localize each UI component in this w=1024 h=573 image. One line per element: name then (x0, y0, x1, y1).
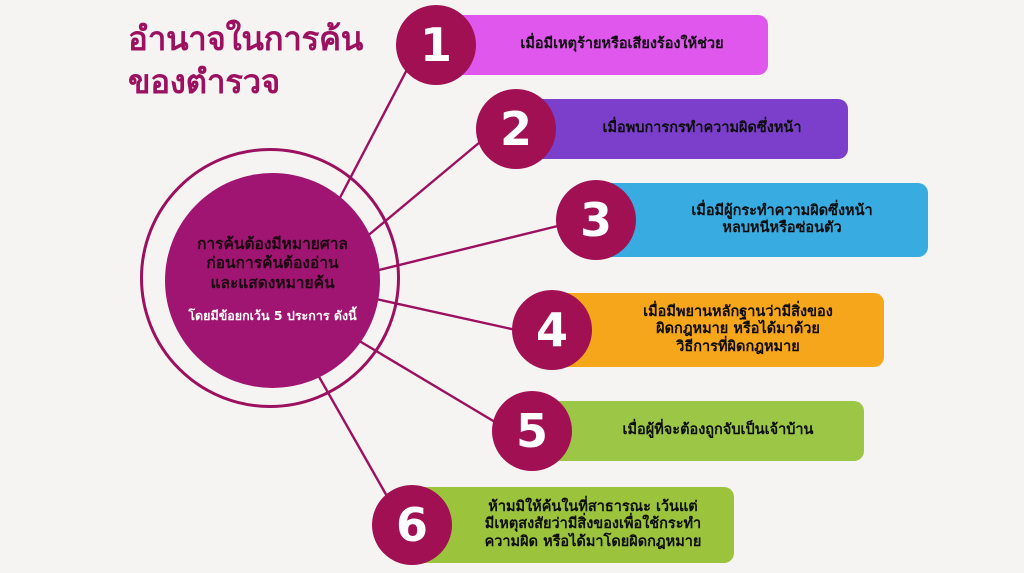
hub-main-line-2: ก่อนการค้นต้องอ่าน (206, 254, 338, 274)
infographic-root: อำนาจในการค้น ของตำรวจ การค้นต้องมีหมายศ… (0, 0, 1024, 573)
list-item-6[interactable]: 6 ห้ามมิให้ค้นในที่สาธารณะ เว้นแต่ มีเหต… (372, 484, 734, 566)
item-4-line-3: วิธีการที่ผิดกฎหมาย (676, 339, 799, 356)
item-1-line-1: เมื่อมีเหตุร้ายหรือเสียงร้องให้ช่วย (520, 36, 723, 53)
item-3-line-2: หลบหนีหรือซ่อนตัว (722, 220, 841, 237)
item-bar-3: เมื่อมีผู้กระทำความผิดซึ่งหน้า หลบหนีหรื… (598, 183, 928, 257)
list-item-5[interactable]: 5 เมื่อผู้ที่จะต้องถูกจับเป็นเจ้าบ้าน (492, 391, 864, 471)
hub-main-line-1: การค้นต้องมีหมายศาล (197, 235, 348, 255)
item-4-line-1: เมื่อมีพยานหลักฐานว่ามีสิ่งของ (643, 304, 833, 321)
title-line-1: อำนาจในการค้น (128, 18, 428, 61)
title-line-2: ของตำรวจ (128, 61, 428, 104)
connector-line-3 (379, 223, 570, 270)
list-item-4[interactable]: 4 เมื่อมีพยานหลักฐานว่ามีสิ่งของ ผิดกฎหม… (512, 290, 884, 370)
list-item-1[interactable]: 1 เมื่อมีเหตุร้ายหรือเสียงร้องให้ช่วย (396, 5, 768, 85)
number-badge-6: 6 (372, 485, 452, 565)
item-bar-5: เมื่อผู้ที่จะต้องถูกจับเป็นเจ้าบ้าน (534, 401, 864, 461)
list-item-3[interactable]: 3 เมื่อมีผู้กระทำความผิดซึ่งหน้า หลบหนีห… (556, 180, 928, 260)
item-6-line-3: ความผิด หรือได้มาโดยผิดกฎหมาย (485, 534, 702, 551)
item-bar-4: เมื่อมีพยานหลักฐานว่ามีสิ่งของ ผิดกฎหมาย… (554, 293, 884, 367)
number-badge-3: 3 (556, 180, 636, 260)
item-bar-1: เมื่อมีเหตุร้ายหรือเสียงร้องให้ช่วย (438, 15, 768, 75)
item-bar-2: เมื่อพบการกรทำความผิดซึ่งหน้า (518, 99, 848, 159)
item-5-line-1: เมื่อผู้ที่จะต้องถูกจับเป็นเจ้าบ้าน (623, 422, 814, 439)
hub-disc: การค้นต้องมีหมายศาล ก่อนการค้นต้องอ่าน แ… (165, 173, 380, 388)
item-6-line-1: ห้ามมิให้ค้นในที่สาธารณะ เว้นแต่ (488, 499, 697, 516)
item-2-line-1: เมื่อพบการกรทำความผิดซึ่งหน้า (603, 120, 802, 137)
page-title: อำนาจในการค้น ของตำรวจ (128, 18, 428, 104)
item-3-line-1: เมื่อมีผู้กระทำความผิดซึ่งหน้า (691, 203, 872, 220)
number-badge-5: 5 (492, 391, 572, 471)
hub-sub-line: โดยมีข้อยกเว้น 5 ประการ ดังนี้ (188, 306, 356, 326)
number-badge-4: 4 (512, 290, 592, 370)
item-4-line-2: ผิดกฎหมาย หรือได้มาด้วย (656, 321, 820, 338)
item-bar-6: ห้ามมิให้ค้นในที่สาธารณะ เว้นแต่ มีเหตุส… (414, 487, 734, 563)
number-badge-2: 2 (476, 89, 556, 169)
central-hub: การค้นต้องมีหมายศาล ก่อนการค้นต้องอ่าน แ… (140, 148, 400, 408)
hub-main-line-3: และแสดงหมายค้น (210, 274, 334, 294)
list-item-2[interactable]: 2 เมื่อพบการกรทำความผิดซึ่งหน้า (476, 89, 848, 169)
item-6-line-2: มีเหตุสงสัยว่ามีสิ่งของเพื่อใช้กระทำ (485, 516, 701, 533)
